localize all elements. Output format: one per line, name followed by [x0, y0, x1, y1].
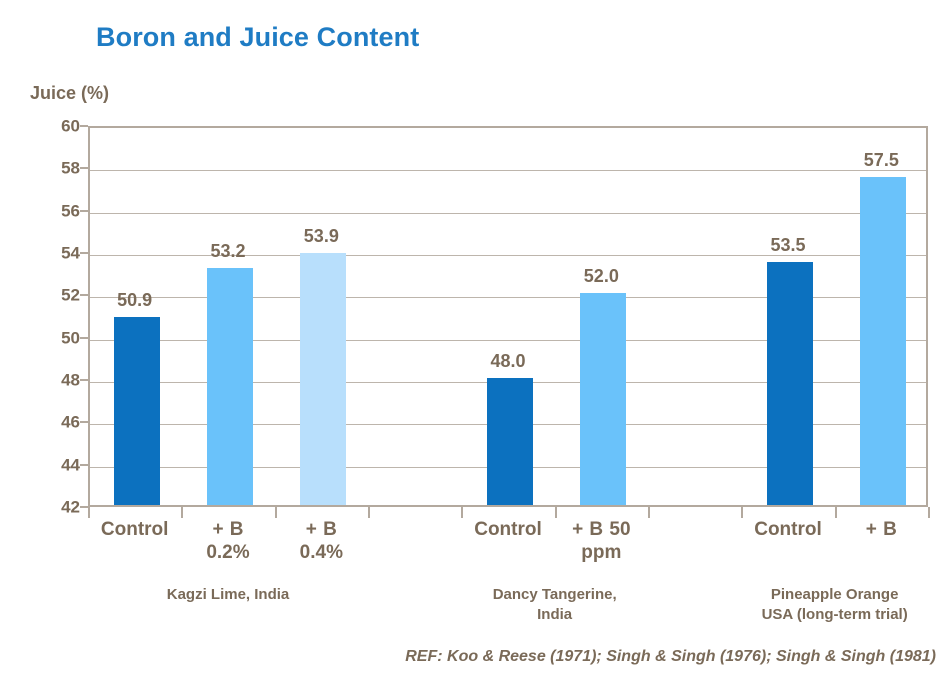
x-category-label: + B0.4%	[269, 518, 374, 564]
x-category-label-line2: ppm	[581, 542, 621, 563]
x-tick-mark	[181, 507, 183, 518]
group-label-line2: India	[537, 606, 572, 623]
y-tick-mark	[80, 167, 88, 169]
bar-value-label: 53.9	[271, 227, 371, 245]
y-tick-mark	[80, 464, 88, 466]
y-tick-mark	[80, 337, 88, 339]
group-label-line2: USA (long-term trial)	[762, 606, 908, 623]
x-category-label: Control	[455, 518, 560, 541]
group-label: Kagzi Lime, India	[78, 585, 378, 605]
x-tick-mark	[648, 507, 650, 518]
x-tick-mark	[88, 507, 90, 518]
bar[interactable]	[860, 177, 906, 505]
bar-chart: Boron and Juice Content Juice (%) 605856…	[0, 0, 948, 694]
x-tick-mark	[368, 507, 370, 518]
x-tick-mark	[928, 507, 930, 518]
y-tick-mark	[80, 506, 88, 508]
chart-title: Boron and Juice Content	[96, 22, 419, 53]
x-tick-mark	[275, 507, 277, 518]
y-axis-tick-marks	[0, 126, 88, 507]
gridline	[90, 213, 926, 214]
y-tick-mark	[80, 125, 88, 127]
x-tick-mark	[835, 507, 837, 518]
y-tick-mark	[80, 379, 88, 381]
x-category-label: + B	[829, 518, 934, 541]
x-axis-category-labels: Control+ B0.2%+ B0.4%Control+ B 50ppmCon…	[88, 518, 928, 580]
plot-area	[88, 126, 928, 507]
x-category-label: + B 50ppm	[549, 518, 654, 564]
bar-value-label: 48.0	[458, 352, 558, 370]
bar-value-label: 52.0	[551, 267, 651, 285]
bar[interactable]	[114, 317, 160, 505]
bar[interactable]	[207, 268, 253, 505]
bar-value-label: 53.5	[738, 236, 838, 254]
y-tick-mark	[80, 252, 88, 254]
bar[interactable]	[300, 253, 346, 505]
group-label: Dancy Tangerine,India	[451, 585, 658, 624]
bar[interactable]	[580, 293, 626, 505]
gridline	[90, 170, 926, 171]
x-category-label: + B0.2%	[175, 518, 280, 564]
x-tick-mark	[741, 507, 743, 518]
group-label: Pineapple OrangeUSA (long-term trial)	[731, 585, 938, 624]
bar-value-label: 57.5	[831, 151, 931, 169]
x-tick-mark	[555, 507, 557, 518]
y-axis-title: Juice (%)	[30, 83, 109, 104]
bar[interactable]	[767, 262, 813, 505]
x-category-label: Control	[735, 518, 840, 541]
bar-value-label: 53.2	[178, 242, 278, 260]
bar[interactable]	[487, 378, 533, 505]
y-tick-mark	[80, 210, 88, 212]
x-category-label-line2: 0.4%	[300, 542, 343, 563]
y-tick-mark	[80, 421, 88, 423]
group-labels: Kagzi Lime, IndiaDancy Tangerine,IndiaPi…	[88, 585, 928, 640]
x-tick-mark	[461, 507, 463, 518]
bar-value-label: 50.9	[85, 291, 185, 309]
x-category-label-line2: 0.2%	[206, 542, 249, 563]
x-category-label: Control	[82, 518, 187, 541]
reference-note: REF: Koo & Reese (1971); Singh & Singh (…	[0, 648, 936, 666]
